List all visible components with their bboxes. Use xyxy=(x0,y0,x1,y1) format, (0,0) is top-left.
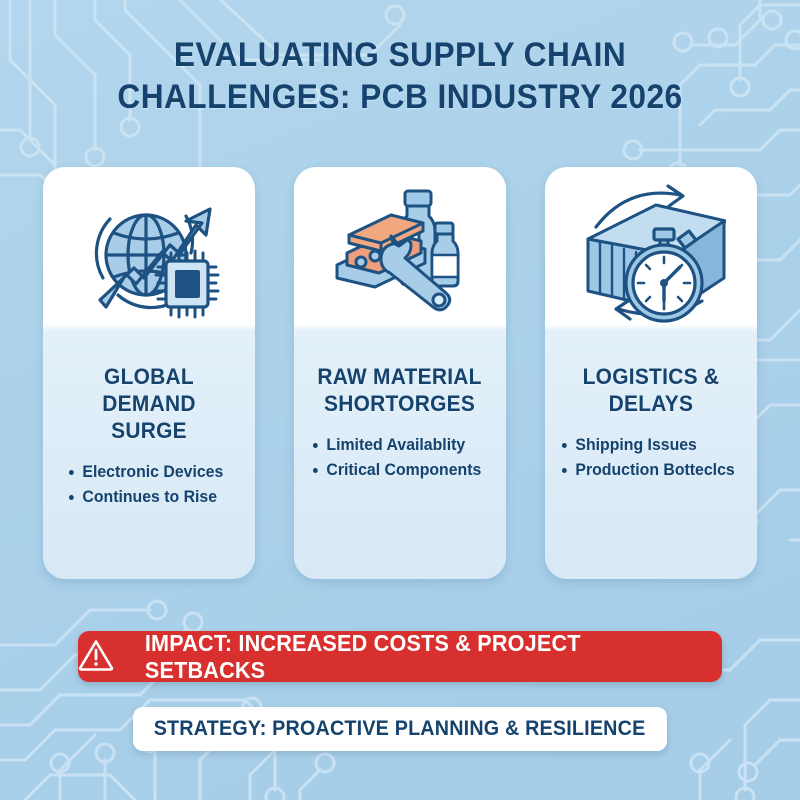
infographic-canvas: EVALUATING SUPPLY CHAIN CHALLENGES: PCB … xyxy=(0,0,800,800)
card-logistics-delays[interactable]: LOGISTICS & DELAYS Shipping Issues Produ… xyxy=(545,167,757,579)
card-title-line-1: RAW MATERIAL xyxy=(318,364,482,389)
impact-banner[interactable]: IMPACT: INCREASED COSTS & PROJECT SETBAC… xyxy=(78,631,722,682)
list-item: Shipping Issues xyxy=(561,433,735,458)
card-title-line-1: GLOBAL DEMAND xyxy=(102,364,195,416)
globe-growth-chip-icon xyxy=(43,167,255,332)
card-title-line-2: DELAYS xyxy=(609,391,694,416)
card-bullets-global-demand: Electronic Devices Continues to Rise xyxy=(68,460,230,510)
list-item: Limited Availablity xyxy=(312,433,481,458)
title-line-1: EVALUATING SUPPLY CHAIN xyxy=(28,34,772,76)
card-bullets-logistics: Shipping Issues Production Botteclcs xyxy=(561,433,742,483)
title-line-2: CHALLENGES: PCB INDUSTRY 2026 xyxy=(28,76,772,118)
impact-banner-text: IMPACT: INCREASED COSTS & PROJECT SETBAC… xyxy=(145,630,704,684)
card-bullets-raw-material: Limited Availablity Critical Components xyxy=(312,433,488,483)
strategy-banner-text: STRATEGY: PROACTIVE PLANNING & RESILIENC… xyxy=(154,717,646,741)
strategy-banner[interactable]: STRATEGY: PROACTIVE PLANNING & RESILIENC… xyxy=(133,707,667,751)
card-title-line-2: SHORTORGES xyxy=(324,391,475,416)
warning-triangle-icon xyxy=(78,638,114,676)
card-title-global-demand: GLOBAL DEMAND SURGE xyxy=(48,332,249,444)
card-title-line-2: SURGE xyxy=(111,418,187,443)
list-item: Critical Components xyxy=(312,458,481,483)
challenge-cards-row: GLOBAL DEMAND SURGE Electronic Devices C… xyxy=(43,167,757,579)
card-title-raw-material: RAW MATERIAL SHORTORGES xyxy=(308,332,491,417)
card-global-demand-surge[interactable]: GLOBAL DEMAND SURGE Electronic Devices C… xyxy=(43,167,255,579)
card-raw-material-shortages[interactable]: RAW MATERIAL SHORTORGES Limited Availabl… xyxy=(294,167,506,579)
list-item: Production Botteclcs xyxy=(561,458,735,483)
list-item: Electronic Devices xyxy=(68,460,223,485)
shipping-container-stopwatch-icon xyxy=(545,167,757,332)
list-item: Continues to Rise xyxy=(68,485,223,510)
page-title: EVALUATING SUPPLY CHAIN CHALLENGES: PCB … xyxy=(0,34,800,118)
card-title-line-1: LOGISTICS & xyxy=(583,364,720,389)
card-title-logistics: LOGISTICS & DELAYS xyxy=(573,332,729,417)
material-stack-wrench-bottles-icon xyxy=(294,167,506,332)
